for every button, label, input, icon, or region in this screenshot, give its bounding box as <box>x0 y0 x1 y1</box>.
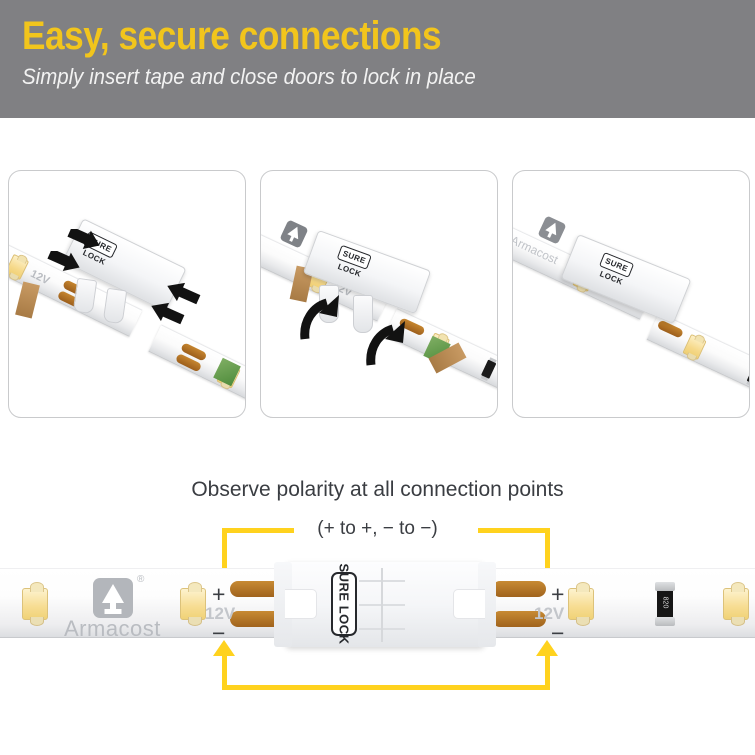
insertion-arrow-2 <box>47 251 83 281</box>
panel-1-illustration: 12V SURE LOCK <box>9 171 245 417</box>
polarity-heading: Observe polarity at all connection point… <box>0 478 755 502</box>
surelock-logo-badge: SURE LOCK <box>331 572 357 636</box>
registered-trademark-symbol: ® <box>137 574 144 585</box>
polarity-bracket-top-right-v <box>545 528 550 572</box>
infographic-page: Easy, secure connections Simply insert t… <box>0 0 755 755</box>
led-chip <box>723 588 749 620</box>
smd-resistor <box>481 360 496 379</box>
polarity-arrow-bottom-right <box>536 640 558 656</box>
copper-pad-plus-right <box>492 581 546 597</box>
plus-sign-left: + <box>212 583 225 606</box>
polarity-arrow-bottom-left <box>213 640 235 656</box>
panel-2-illustration: 12V SURE LOCK <box>261 171 497 417</box>
polarity-note: (+ to +, − to −) <box>0 518 755 540</box>
step-panels: 12V SURE LOCK <box>0 170 755 418</box>
voltage-label-right: 12V <box>534 604 564 624</box>
step-panel-1: 12V SURE LOCK <box>8 170 246 418</box>
close-door-arrow-right <box>365 317 413 369</box>
armacost-wordmark: Armacost <box>64 616 161 642</box>
smd-resistor <box>747 365 750 384</box>
led-tape-right <box>647 312 750 403</box>
connector-door-seam <box>381 568 383 642</box>
step-panel-2: 12V SURE LOCK <box>260 170 498 418</box>
page-subtitle: Simply insert tape and close doors to lo… <box>22 62 704 92</box>
led-chip <box>568 588 594 620</box>
page-title: Easy, secure connections <box>22 14 667 58</box>
led-chip <box>180 588 206 620</box>
plus-sign-right: + <box>551 583 564 606</box>
polarity-bracket-bottom-right-v <box>545 654 550 690</box>
insertion-arrow-4 <box>145 301 185 333</box>
smd-resistor: 820 <box>657 589 673 619</box>
polarity-bracket-top-left-v <box>222 528 227 572</box>
led-chip <box>8 254 29 280</box>
polarity-bracket-bottom-h <box>222 685 550 690</box>
step-panel-3: 12V SURE LOCK Armacost <box>512 170 750 418</box>
polarity-diagram: Observe polarity at all connection point… <box>0 440 755 755</box>
surelock-connector-full: SURE LOCK <box>285 562 485 647</box>
led-chip <box>22 588 48 620</box>
tape-backing-tab-left <box>15 281 40 318</box>
voltage-label-left: 12V <box>205 604 235 624</box>
surelock-logo-badge: SURE LOCK <box>337 245 372 270</box>
led-chip <box>682 334 706 360</box>
surelock-logo-badge: SURE LOCK <box>599 252 634 278</box>
resistor-code: 820 <box>662 595 669 611</box>
panel-3-illustration: 12V SURE LOCK Armacost <box>513 171 749 417</box>
close-door-arrow-left <box>299 291 347 343</box>
polarity-bracket-bottom-left-v <box>222 654 227 690</box>
polarity-bracket-top-right-h <box>478 528 550 533</box>
polarity-bracket-top-left-h <box>222 528 294 533</box>
surelock-label: SURE LOCK <box>337 563 352 644</box>
connector-notch-left <box>285 589 317 619</box>
armacost-logo-icon <box>93 578 133 618</box>
header-banner: Easy, secure connections Simply insert t… <box>0 0 755 118</box>
connector-notch-right <box>453 589 485 619</box>
